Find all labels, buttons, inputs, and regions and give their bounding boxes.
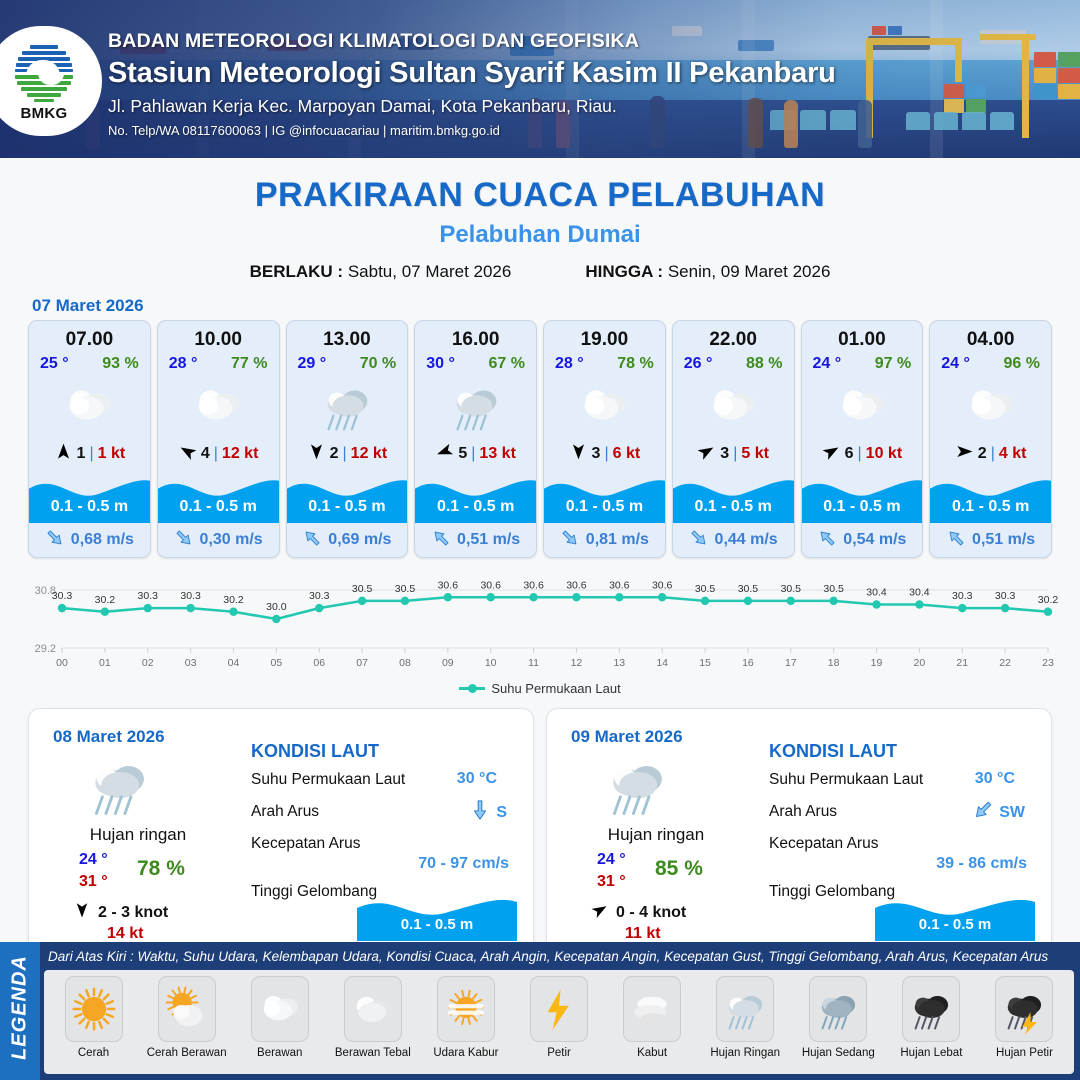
valid-from-label: BERLAKU : <box>250 262 344 281</box>
svg-text:13: 13 <box>613 657 625 669</box>
svg-text:30.3: 30.3 <box>52 590 73 602</box>
card-wind: 2|4 kt <box>930 437 1051 471</box>
card-weather-icon <box>930 375 1051 437</box>
panel-current-direction-arrow-icon <box>469 799 491 826</box>
panel-temp-min: 24 ° <box>79 851 108 869</box>
panel-current-dir-value: SW <box>999 804 1025 822</box>
svg-text:16: 16 <box>742 657 754 669</box>
svg-text:30.5: 30.5 <box>738 583 759 595</box>
card-humidity: 77 % <box>231 355 267 373</box>
card-wind-degree: 5 <box>458 445 467 463</box>
card-wave-height: 0.1 - 0.5 m <box>158 498 279 516</box>
legend-item: Hujan Ringan <box>700 976 791 1059</box>
chart-legend: Suhu Permukaan Laut <box>0 681 1080 696</box>
svg-text:29.2: 29.2 <box>35 643 56 655</box>
panel-gust: 14 kt <box>107 925 143 943</box>
card-time: 19.00 <box>544 321 665 351</box>
card-temperature: 24 ° <box>813 355 842 373</box>
card-wave: 0.1 - 0.5 m <box>802 471 923 523</box>
legend-item-label: Berawan Tebal <box>335 1047 411 1059</box>
panel-temp-max: 31 ° <box>597 873 626 891</box>
svg-text:07: 07 <box>356 657 368 669</box>
card-current-speed: 0,51 m/s <box>457 531 520 549</box>
svg-text:10: 10 <box>485 657 497 669</box>
panel-sea-title: KONDISI LAUT <box>251 741 379 762</box>
card-wind: 4|12 kt <box>158 437 279 471</box>
legend-icon-box <box>158 976 216 1042</box>
valid-from: BERLAKU : Sabtu, 07 Maret 2026 <box>250 262 512 282</box>
panel-sst-value: 30 °C <box>457 770 497 788</box>
card-current: 0,68 m/s <box>29 523 150 557</box>
svg-text:30.6: 30.6 <box>438 579 459 591</box>
hourly-card: 13.0029 °70 %2|12 kt0.1 - 0.5 m0,69 m/s <box>286 320 409 558</box>
card-wind: 3|5 kt <box>673 437 794 471</box>
hourly-card: 07.0025 °93 %1|1 kt0.1 - 0.5 m0,68 m/s <box>28 320 151 558</box>
panel-wind-direction-arrow-icon <box>591 901 609 924</box>
panel-current-speed-value: 39 - 86 cm/s <box>936 855 1027 873</box>
card-temperature: 24 ° <box>941 355 970 373</box>
card-current: 0,51 m/s <box>930 523 1051 557</box>
wind-direction-arrow-icon <box>822 442 841 466</box>
card-weather-icon <box>544 375 665 437</box>
legend-item-label: Hujan Lebat <box>900 1047 962 1059</box>
legend-item-label: Petir <box>547 1047 571 1059</box>
card-time: 10.00 <box>158 321 279 351</box>
svg-text:30.2: 30.2 <box>1038 594 1059 606</box>
legend-item: Hujan Petir <box>979 976 1070 1059</box>
current-direction-arrow-icon <box>689 528 709 553</box>
svg-text:00: 00 <box>56 657 68 669</box>
wind-separator: | <box>343 445 347 463</box>
card-current-speed: 0,51 m/s <box>972 531 1035 549</box>
card-current: 0,81 m/s <box>544 523 665 557</box>
panel-current-speed-label: Kecepatan Arus <box>251 835 360 853</box>
current-direction-arrow-icon <box>302 528 322 553</box>
svg-text:04: 04 <box>228 657 240 669</box>
card-weather-icon <box>415 375 536 437</box>
validity-row: BERLAKU : Sabtu, 07 Maret 2026 HINGGA : … <box>0 262 1080 282</box>
card-temp-humidity: 28 °77 % <box>158 351 279 373</box>
panel-gust: 11 kt <box>625 925 661 943</box>
card-current: 0,44 m/s <box>673 523 794 557</box>
card-wind-speed: 10 kt <box>866 445 902 463</box>
legend-item: Hujan Lebat <box>886 976 977 1059</box>
panel-temp-max: 31 ° <box>79 873 108 891</box>
panel-sea-title: KONDISI LAUT <box>769 741 897 762</box>
card-temp-humidity: 24 °97 % <box>802 351 923 373</box>
wind-separator: | <box>858 445 862 463</box>
card-wind-degree: 1 <box>77 445 86 463</box>
card-wave: 0.1 - 0.5 m <box>544 471 665 523</box>
svg-text:23: 23 <box>1042 657 1054 669</box>
panel-current-speed-label: Kecepatan Arus <box>769 835 878 853</box>
card-weather-icon <box>158 375 279 437</box>
card-current-speed: 0,81 m/s <box>586 531 649 549</box>
legend-icon-box <box>344 976 402 1042</box>
card-temp-humidity: 29 °70 % <box>287 351 408 373</box>
legend-icon-box <box>902 976 960 1042</box>
hourly-card: 19.0028 °78 %3|6 kt0.1 - 0.5 m0,81 m/s <box>543 320 666 558</box>
panel-date: 08 Maret 2026 <box>53 727 165 747</box>
card-humidity: 93 % <box>102 355 138 373</box>
card-wave: 0.1 - 0.5 m <box>930 471 1051 523</box>
panel-temp-min: 24 ° <box>597 851 626 869</box>
svg-text:17: 17 <box>785 657 797 669</box>
svg-text:03: 03 <box>185 657 197 669</box>
legend-icon-box <box>716 976 774 1042</box>
legend-item-label: Udara Kabur <box>433 1047 498 1059</box>
card-current: 0,30 m/s <box>158 523 279 557</box>
svg-text:30.6: 30.6 <box>609 579 630 591</box>
chart-legend-label: Suhu Permukaan Laut <box>491 681 620 696</box>
daily-forecast-panels: 08 Maret 2026Hujan ringan24 °31 °78 %2 -… <box>0 696 1080 956</box>
card-current: 0,69 m/s <box>287 523 408 557</box>
legend-item: Berawan <box>234 976 325 1059</box>
panel-sst-label: Suhu Permukaan Laut <box>251 771 405 789</box>
svg-text:30.3: 30.3 <box>180 590 201 602</box>
station-name: Stasiun Meteorologi Sultan Syarif Kasim … <box>108 57 836 90</box>
legend-section: LEGENDA Dari Atas Kiri : Waktu, Suhu Uda… <box>0 942 1080 1080</box>
daily-panel: 08 Maret 2026Hujan ringan24 °31 °78 %2 -… <box>28 708 534 956</box>
hourly-day-label: 07 Maret 2026 <box>32 296 1080 316</box>
page-header: BMKG BADAN METEOROLOGI KLIMATOLOGI DAN G… <box>0 0 1080 158</box>
panel-humidity: 85 % <box>655 857 703 881</box>
legend-item-label: Kabut <box>637 1047 667 1059</box>
svg-text:30.3: 30.3 <box>309 590 330 602</box>
page-title: PRAKIRAAN CUACA PELABUHAN <box>0 176 1080 215</box>
legend-icon-box <box>65 976 123 1042</box>
legend-item: Cerah Berawan <box>141 976 232 1059</box>
svg-text:30.5: 30.5 <box>781 583 802 595</box>
sst-chart-canvas: 30.829.200010203040506070809101112131415… <box>18 568 1062 678</box>
panel-current-dir-value-group: S <box>469 799 507 826</box>
wind-separator: | <box>991 445 995 463</box>
card-humidity: 88 % <box>746 355 782 373</box>
card-time: 16.00 <box>415 321 536 351</box>
card-temperature: 28 ° <box>555 355 584 373</box>
current-direction-arrow-icon <box>45 528 65 553</box>
current-direction-arrow-icon <box>174 528 194 553</box>
wind-direction-arrow-icon <box>54 442 73 466</box>
svg-text:30.5: 30.5 <box>823 583 844 595</box>
card-current: 0,51 m/s <box>415 523 536 557</box>
wind-separator: | <box>471 445 475 463</box>
card-wind-speed: 4 kt <box>999 445 1027 463</box>
wind-separator: | <box>89 445 93 463</box>
legend-item-label: Hujan Ringan <box>710 1047 780 1059</box>
svg-text:30.3: 30.3 <box>995 590 1016 602</box>
panel-wave-value: 0.1 - 0.5 m <box>875 916 1035 933</box>
hourly-card: 22.0026 °88 %3|5 kt0.1 - 0.5 m0,44 m/s <box>672 320 795 558</box>
chart-legend-marker-icon <box>459 687 485 690</box>
card-wave-height: 0.1 - 0.5 m <box>415 498 536 516</box>
card-time: 07.00 <box>29 321 150 351</box>
card-wave: 0.1 - 0.5 m <box>415 471 536 523</box>
card-humidity: 97 % <box>875 355 911 373</box>
legend-item-label: Cerah <box>78 1047 109 1059</box>
panel-wind: 0 - 4 knot <box>591 901 686 924</box>
svg-text:08: 08 <box>399 657 411 669</box>
card-current: 0,54 m/s <box>802 523 923 557</box>
valid-to: HINGGA : Senin, 09 Maret 2026 <box>585 262 830 282</box>
card-wave-height: 0.1 - 0.5 m <box>544 498 665 516</box>
svg-text:30.3: 30.3 <box>138 590 159 602</box>
daily-panel: 09 Maret 2026Hujan ringan24 °31 °85 %0 -… <box>546 708 1052 956</box>
panel-sst-label: Suhu Permukaan Laut <box>769 771 923 789</box>
panel-wind: 2 - 3 knot <box>73 901 168 924</box>
card-wind: 2|12 kt <box>287 437 408 471</box>
card-wind-degree: 4 <box>201 445 210 463</box>
svg-text:30.6: 30.6 <box>480 579 501 591</box>
wind-direction-arrow-icon <box>435 442 454 466</box>
card-wind: 6|10 kt <box>802 437 923 471</box>
card-wind-speed: 12 kt <box>222 445 258 463</box>
card-wind: 1|1 kt <box>29 437 150 471</box>
legend-icon-box <box>437 976 495 1042</box>
panel-current-direction-arrow-icon <box>972 799 994 826</box>
card-humidity: 70 % <box>360 355 396 373</box>
legend-side-title: LEGENDA <box>9 946 32 1070</box>
svg-text:30.6: 30.6 <box>566 579 587 591</box>
card-wind-speed: 13 kt <box>479 445 515 463</box>
card-wind-degree: 6 <box>845 445 854 463</box>
sst-chart: 30.829.200010203040506070809101112131415… <box>18 568 1062 678</box>
current-direction-arrow-icon <box>560 528 580 553</box>
wind-separator: | <box>733 445 737 463</box>
card-temperature: 25 ° <box>40 355 69 373</box>
panel-current-dir-value-group: SW <box>972 799 1025 826</box>
card-wave: 0.1 - 0.5 m <box>29 471 150 523</box>
card-humidity: 96 % <box>1004 355 1040 373</box>
svg-text:12: 12 <box>571 657 583 669</box>
panel-wind-range: 0 - 4 knot <box>616 904 686 922</box>
wind-separator: | <box>604 445 608 463</box>
panel-current-dir-value: S <box>496 804 507 822</box>
valid-to-label: HINGGA : <box>585 262 663 281</box>
page-subtitle: Pelabuhan Dumai <box>0 221 1080 249</box>
legend-item-label: Hujan Sedang <box>802 1047 875 1059</box>
legend-icon-box <box>809 976 867 1042</box>
card-temperature: 30 ° <box>426 355 455 373</box>
card-wind-speed: 1 kt <box>98 445 126 463</box>
card-wave: 0.1 - 0.5 m <box>287 471 408 523</box>
card-wave-height: 0.1 - 0.5 m <box>802 498 923 516</box>
card-wind: 3|6 kt <box>544 437 665 471</box>
legend-items-row: CerahCerah BerawanBerawanBerawan TebalUd… <box>44 970 1074 1074</box>
legend-item-label: Berawan <box>257 1047 302 1059</box>
bmkg-logo-label: BMKG <box>20 105 67 122</box>
card-current-speed: 0,30 m/s <box>200 531 263 549</box>
panel-wave: 0.1 - 0.5 m <box>875 891 1035 941</box>
card-current-speed: 0,68 m/s <box>71 531 134 549</box>
card-weather-icon <box>287 375 408 437</box>
card-wave-height: 0.1 - 0.5 m <box>673 498 794 516</box>
card-humidity: 78 % <box>617 355 653 373</box>
svg-text:06: 06 <box>313 657 325 669</box>
card-current-speed: 0,54 m/s <box>843 531 906 549</box>
svg-text:30.5: 30.5 <box>352 583 373 595</box>
svg-text:22: 22 <box>999 657 1011 669</box>
current-direction-arrow-icon <box>946 528 966 553</box>
svg-text:01: 01 <box>99 657 111 669</box>
hourly-card: 04.0024 °96 %2|4 kt0.1 - 0.5 m0,51 m/s <box>929 320 1052 558</box>
legend-icon-box <box>995 976 1053 1042</box>
panel-condition: Hujan ringan <box>43 825 233 845</box>
card-temperature: 26 ° <box>684 355 713 373</box>
svg-text:18: 18 <box>828 657 840 669</box>
card-current-speed: 0,69 m/s <box>328 531 391 549</box>
legend-item: Petir <box>513 976 604 1059</box>
legend-side-bar: LEGENDA <box>0 942 40 1080</box>
svg-text:30.3: 30.3 <box>952 590 973 602</box>
svg-text:20: 20 <box>914 657 926 669</box>
card-time: 13.00 <box>287 321 408 351</box>
panel-weather-icon <box>599 747 675 828</box>
card-wind-speed: 6 kt <box>613 445 641 463</box>
card-time: 22.00 <box>673 321 794 351</box>
card-wind-degree: 2 <box>978 445 987 463</box>
panel-wind-direction-arrow-icon <box>73 901 91 924</box>
panel-current-dir-label: Arah Arus <box>251 803 319 821</box>
card-wind-degree: 3 <box>720 445 729 463</box>
panel-date: 09 Maret 2026 <box>571 727 683 747</box>
card-wave-height: 0.1 - 0.5 m <box>29 498 150 516</box>
panel-weather-icon <box>81 747 157 828</box>
legend-item: Udara Kabur <box>420 976 511 1059</box>
legend-item: Kabut <box>607 976 698 1059</box>
current-direction-arrow-icon <box>431 528 451 553</box>
card-temperature: 29 ° <box>298 355 327 373</box>
svg-text:30.2: 30.2 <box>95 594 116 606</box>
station-contact: No. Telp/WA 08117600063 | IG @infocuacar… <box>108 123 836 138</box>
wind-direction-arrow-icon <box>307 442 326 466</box>
card-weather-icon <box>29 375 150 437</box>
card-weather-icon <box>802 375 923 437</box>
svg-text:30.5: 30.5 <box>395 583 416 595</box>
station-address: Jl. Pahlawan Kerja Kec. Marpoyan Damai, … <box>108 96 836 117</box>
svg-text:09: 09 <box>442 657 454 669</box>
wind-direction-arrow-icon <box>955 442 974 466</box>
svg-text:30.2: 30.2 <box>223 594 244 606</box>
card-wind-speed: 12 kt <box>351 445 387 463</box>
svg-text:19: 19 <box>871 657 883 669</box>
panel-humidity: 78 % <box>137 857 185 881</box>
legend-item: Cerah <box>48 976 139 1059</box>
card-current-speed: 0,44 m/s <box>715 531 778 549</box>
svg-text:15: 15 <box>699 657 711 669</box>
svg-text:30.4: 30.4 <box>909 587 930 599</box>
wind-direction-arrow-icon <box>178 442 197 466</box>
legend-icon-box <box>530 976 588 1042</box>
panel-sst-value: 30 °C <box>975 770 1015 788</box>
card-time: 01.00 <box>802 321 923 351</box>
card-wind-degree: 3 <box>592 445 601 463</box>
card-wave-height: 0.1 - 0.5 m <box>930 498 1051 516</box>
svg-text:30.4: 30.4 <box>866 587 887 599</box>
bmkg-globe-icon <box>12 40 76 104</box>
svg-text:30.0: 30.0 <box>266 601 287 613</box>
card-temp-humidity: 25 °93 % <box>29 351 150 373</box>
legend-item: Hujan Sedang <box>793 976 884 1059</box>
panel-wave-value: 0.1 - 0.5 m <box>357 916 517 933</box>
card-wind-degree: 2 <box>330 445 339 463</box>
card-temp-humidity: 28 °78 % <box>544 351 665 373</box>
card-temperature: 28 ° <box>169 355 198 373</box>
hourly-card: 01.0024 °97 %6|10 kt0.1 - 0.5 m0,54 m/s <box>801 320 924 558</box>
hourly-card: 16.0030 °67 %5|13 kt0.1 - 0.5 m0,51 m/s <box>414 320 537 558</box>
wind-direction-arrow-icon <box>569 442 588 466</box>
legend-caption: Dari Atas Kiri : Waktu, Suhu Udara, Kele… <box>48 949 1048 964</box>
svg-text:30.6: 30.6 <box>523 579 544 591</box>
panel-wind-range: 2 - 3 knot <box>98 904 168 922</box>
svg-text:30.5: 30.5 <box>695 583 716 595</box>
current-direction-arrow-icon <box>817 528 837 553</box>
panel-current-speed-value: 70 - 97 cm/s <box>418 855 509 873</box>
card-temp-humidity: 30 °67 % <box>415 351 536 373</box>
panel-wave: 0.1 - 0.5 m <box>357 891 517 941</box>
svg-text:02: 02 <box>142 657 154 669</box>
legend-item-label: Hujan Petir <box>996 1047 1053 1059</box>
card-time: 04.00 <box>930 321 1051 351</box>
svg-text:11: 11 <box>528 657 539 669</box>
valid-from-value: Sabtu, 07 Maret 2026 <box>348 262 512 281</box>
card-wave: 0.1 - 0.5 m <box>158 471 279 523</box>
legend-item: Berawan Tebal <box>327 976 418 1059</box>
panel-condition: Hujan ringan <box>561 825 751 845</box>
svg-text:14: 14 <box>656 657 668 669</box>
svg-text:30.6: 30.6 <box>652 579 673 591</box>
valid-to-value: Senin, 09 Maret 2026 <box>668 262 831 281</box>
svg-text:21: 21 <box>956 657 968 669</box>
header-text-block: BADAN METEOROLOGI KLIMATOLOGI DAN GEOFIS… <box>108 30 836 138</box>
card-weather-icon <box>673 375 794 437</box>
wind-separator: | <box>214 445 218 463</box>
legend-icon-box <box>623 976 681 1042</box>
hourly-card: 10.0028 °77 %4|12 kt0.1 - 0.5 m0,30 m/s <box>157 320 280 558</box>
card-humidity: 67 % <box>489 355 525 373</box>
card-wind: 5|13 kt <box>415 437 536 471</box>
wind-direction-arrow-icon <box>697 442 716 466</box>
legend-item-label: Cerah Berawan <box>147 1047 227 1059</box>
card-temp-humidity: 24 °96 % <box>930 351 1051 373</box>
card-wave: 0.1 - 0.5 m <box>673 471 794 523</box>
panel-current-dir-label: Arah Arus <box>769 803 837 821</box>
card-wave-height: 0.1 - 0.5 m <box>287 498 408 516</box>
card-temp-humidity: 26 °88 % <box>673 351 794 373</box>
hourly-forecast-row: 07.0025 °93 %1|1 kt0.1 - 0.5 m0,68 m/s10… <box>0 320 1080 558</box>
svg-text:05: 05 <box>271 657 283 669</box>
agency-name: BADAN METEOROLOGI KLIMATOLOGI DAN GEOFIS… <box>108 30 836 53</box>
legend-icon-box <box>251 976 309 1042</box>
card-wind-speed: 5 kt <box>741 445 769 463</box>
